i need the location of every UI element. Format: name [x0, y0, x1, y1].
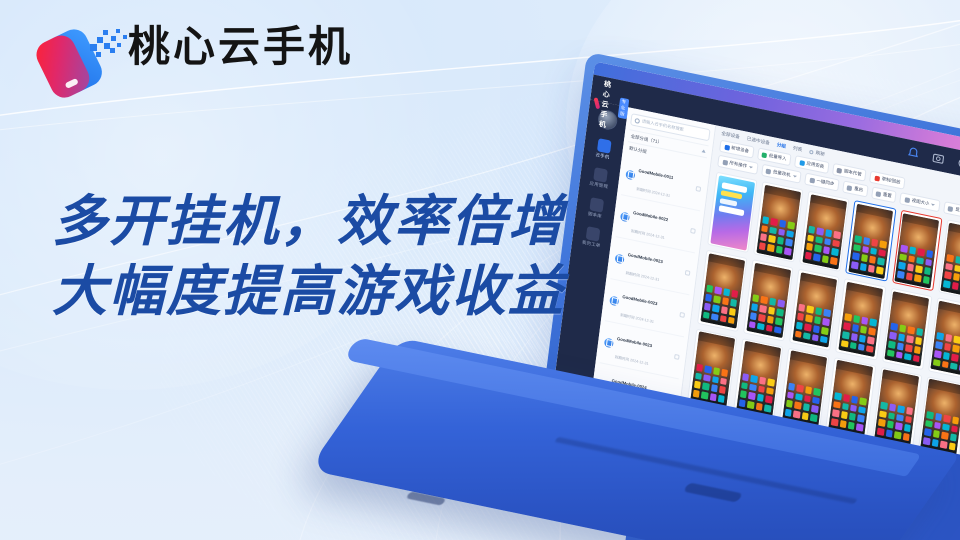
headline-block: 多开挂机，效率倍增 大幅度提高游戏收益	[52, 186, 565, 327]
sidebar-item-label: 我的工单	[582, 241, 601, 249]
device-tile[interactable]	[882, 288, 933, 370]
device-name: GoodMobile-0011	[638, 167, 673, 179]
device-expiry: 到期时间 2024-12-31	[636, 186, 670, 197]
sidebar-item-label: 云手机	[595, 153, 609, 160]
search-icon	[635, 117, 641, 123]
device-tile[interactable]	[743, 260, 794, 342]
phone-statusbar	[846, 282, 883, 298]
button-label: 显示名称	[955, 207, 960, 217]
device-checkbox[interactable]	[696, 186, 702, 192]
phone-app-grid	[897, 245, 933, 284]
device-name: GoodMobile-0023	[617, 335, 653, 347]
device-tile-recording[interactable]	[892, 210, 943, 292]
chevron-up-icon	[702, 149, 706, 153]
button-label: 一键同步	[816, 178, 834, 188]
phone-app-grid	[805, 226, 841, 265]
app-logo-mark-icon	[594, 97, 600, 109]
cloud-phone-pixel-logo-icon	[24, 14, 136, 98]
script-icon	[837, 167, 843, 173]
phone-app-grid	[841, 314, 877, 353]
tab-label: 刷新	[815, 150, 825, 158]
device-expiry: 到期时间 2024-12-31	[620, 312, 654, 323]
poster-content	[715, 182, 749, 242]
device-tile[interactable]	[938, 219, 960, 301]
phone-screen	[921, 379, 960, 455]
phone-app-grid	[877, 402, 913, 441]
device-icon	[615, 254, 625, 265]
phone-screen	[894, 213, 939, 289]
button-label: 重置	[883, 192, 893, 200]
phone-app-grid	[703, 285, 739, 324]
phone-screen	[746, 263, 791, 339]
notification-bell-icon[interactable]	[906, 145, 921, 161]
phone-statusbar	[902, 213, 939, 229]
button-label: 脚本托管	[844, 168, 862, 178]
tab-groups[interactable]: 分组	[776, 142, 786, 150]
phone-screen	[941, 222, 960, 298]
grid-icon	[904, 197, 910, 203]
device-tile[interactable]	[753, 181, 804, 263]
chevron-down-icon	[749, 166, 753, 169]
import-icon	[762, 152, 768, 158]
device-icon	[604, 338, 614, 349]
device-icon	[620, 212, 630, 223]
phone-app-grid	[831, 392, 867, 431]
phone-statusbar	[856, 203, 893, 219]
device-expiry: 到期时间 2024-12-31	[631, 228, 665, 239]
sidebar-item-cloudphone[interactable]: 云手机	[583, 135, 623, 162]
ticket-icon	[585, 226, 600, 242]
button-label: 重启	[854, 186, 864, 194]
phone-app-grid	[749, 295, 785, 334]
button-label: 视图大小	[911, 198, 929, 208]
refresh-icon	[809, 149, 814, 154]
device-name: GoodMobile-0022	[633, 209, 669, 221]
script-icon	[589, 197, 604, 213]
phone-screen	[874, 370, 919, 446]
device-icon	[766, 168, 772, 174]
screenshot-icon[interactable]	[931, 150, 946, 166]
device-tile[interactable]	[928, 298, 960, 380]
device-tile[interactable]	[872, 367, 923, 449]
sidebar-item-apps[interactable]: 应用管理	[579, 165, 619, 192]
headline-line-1: 多开挂机，效率倍增	[52, 186, 565, 256]
chevron-down-icon	[931, 204, 935, 207]
phone-app-grid	[795, 304, 831, 343]
phone-statusbar	[836, 360, 873, 376]
device-name: GoodMobile-0023	[628, 251, 664, 263]
phone-statusbar	[810, 194, 847, 210]
brand-logo	[24, 14, 136, 98]
device-name: GoodMobile-0023	[622, 293, 658, 305]
phone-statusbar	[938, 301, 960, 317]
device-expiry: 到期时间 2024-12-31	[615, 354, 649, 365]
label-icon	[948, 206, 954, 212]
phone-statusbar	[892, 291, 929, 307]
sidebar-item-label: 应用管理	[589, 182, 608, 190]
phone-statusbar	[928, 379, 960, 395]
poster-bar	[718, 205, 743, 216]
phone-app-grid	[759, 216, 795, 255]
device-tile[interactable]	[918, 376, 960, 458]
brand-name: 桃心云手机	[128, 26, 353, 68]
phone-screen	[828, 360, 873, 436]
phone-statusbar	[948, 222, 960, 238]
device-tile[interactable]	[825, 357, 876, 439]
record-icon	[874, 175, 880, 181]
phone-app-grid	[739, 373, 775, 412]
phone-screen	[782, 351, 827, 427]
phone-screen	[736, 341, 781, 417]
gear-icon	[722, 159, 728, 165]
laptop-mockup: 桃心云手机 专业版 云手机 应用管理 脚本库	[536, 96, 960, 540]
search-placeholder: 请输入云手机名称搜索	[641, 118, 684, 133]
phone-screen	[931, 301, 960, 377]
plus-icon	[724, 144, 730, 150]
button-label: 所有操作	[729, 160, 747, 170]
sidebar-item-scripts[interactable]: 脚本库	[576, 194, 616, 221]
sync-icon	[809, 177, 815, 183]
phone-screen	[884, 291, 929, 367]
phone-app-grid	[887, 323, 923, 362]
headline-line-2: 大幅度提高游戏收益	[52, 256, 565, 326]
device-icon	[609, 296, 619, 307]
sidebar-item-tickets[interactable]: 我的工单	[572, 224, 612, 251]
sidebar-item-label: 脚本库	[588, 212, 602, 219]
device-expiry: 到期时间 2024-12-31	[625, 270, 659, 281]
phone-screen	[710, 175, 755, 251]
phone-statusbar	[744, 341, 781, 357]
phone-screen	[756, 184, 801, 260]
phone-statusbar	[764, 184, 801, 200]
phone-statusbar	[800, 272, 837, 288]
device-checkbox[interactable]	[679, 312, 685, 318]
phone-screen	[838, 282, 883, 358]
device-tile-selected[interactable]	[845, 200, 896, 282]
phone-statusbar	[882, 370, 919, 386]
poster-canvas: 桃心云手机 多开挂机，效率倍增 大幅度提高游戏收益	[0, 0, 960, 540]
phone-screen	[690, 332, 735, 408]
chevron-down-icon	[792, 175, 796, 178]
device-tile-poster[interactable]	[707, 172, 758, 254]
power-icon	[847, 185, 853, 191]
app-logo-text: 桃心云手机	[598, 79, 619, 132]
phone-screen	[792, 272, 837, 348]
device-checkbox[interactable]	[690, 228, 696, 234]
reset-icon	[876, 191, 882, 197]
device-tile[interactable]	[789, 269, 840, 351]
phone-app-grid	[692, 363, 728, 402]
phone-app-grid	[785, 382, 821, 421]
settings-gear-icon[interactable]	[956, 156, 960, 172]
tab-refresh[interactable]: 刷新	[809, 149, 825, 158]
device-checkbox[interactable]	[685, 270, 691, 276]
phone-statusbar	[790, 351, 827, 367]
phone-statusbar	[698, 332, 735, 348]
button-label: 批量改机	[773, 169, 791, 179]
button-label: 新增设备	[731, 145, 749, 155]
button-label: 批量导入	[768, 153, 786, 163]
tab-list[interactable]: 列表	[793, 145, 803, 153]
phone-icon	[596, 138, 611, 154]
device-tile[interactable]	[835, 279, 886, 361]
tab-all-devices[interactable]: 全部设备	[721, 131, 740, 141]
phone-screen	[802, 194, 847, 270]
phone-statusbar	[708, 253, 745, 269]
button-label: 录制/回放	[881, 176, 901, 186]
button-label: 应用安装	[806, 160, 824, 170]
phone-app-grid	[923, 411, 959, 450]
phone-screen	[848, 203, 893, 279]
install-icon	[799, 160, 805, 166]
phone-statusbar	[754, 263, 791, 279]
phone-screen	[700, 253, 745, 329]
phone-app-grid	[851, 235, 887, 274]
device-icon	[625, 170, 635, 181]
device-tile[interactable]	[697, 250, 748, 332]
device-checkbox[interactable]	[674, 354, 680, 360]
device-tile[interactable]	[799, 191, 850, 273]
